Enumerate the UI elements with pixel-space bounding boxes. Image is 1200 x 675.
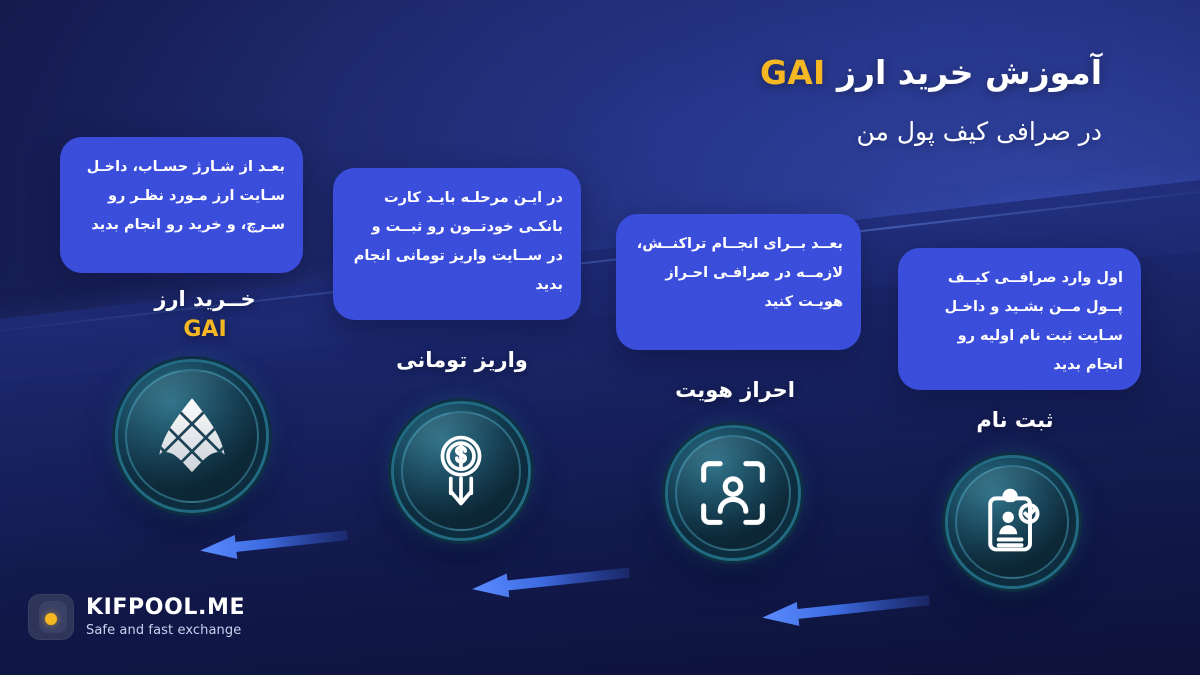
coin-buy-gai bbox=[118, 362, 266, 510]
brand-logo: KIFPOOL.ME Safe and fast exchange bbox=[28, 594, 245, 640]
gai-net-logo-icon bbox=[149, 393, 235, 479]
callout-bubble-buy-gai: بعـد از شـارژ حسـاب، داخـل سـایت ارز مـو… bbox=[60, 137, 303, 273]
arrow-left-icon bbox=[469, 558, 631, 605]
callout-bubble-signup: اول وارد صرافــی کیــف پــول مــن بشـید … bbox=[898, 248, 1141, 390]
brand-text-block: KIFPOOL.ME Safe and fast exchange bbox=[86, 596, 245, 638]
step-label-buy-gai-text: خــرید ارز bbox=[154, 287, 255, 311]
step-label-buy-gai-accent: GAI bbox=[110, 316, 300, 344]
page-title: آموزش خرید ارز GAI bbox=[760, 52, 1102, 93]
wallet-icon bbox=[28, 594, 74, 640]
coin-toman-deposit bbox=[394, 404, 528, 538]
wallet-coin-dot bbox=[45, 613, 57, 625]
flow-arrow-1 bbox=[759, 585, 932, 637]
dollar-down-arrow-icon bbox=[426, 432, 496, 510]
infographic-canvas: آموزش خرید ارز GAI در صرافی کیف پول من ب… bbox=[0, 0, 1200, 675]
arrow-left-icon bbox=[759, 585, 931, 633]
step-label-signup: ثبت نام bbox=[940, 408, 1090, 432]
step-label-buy-gai: خــرید ارز GAI bbox=[110, 286, 300, 344]
brand-name: KIFPOOL.ME bbox=[86, 596, 245, 619]
flow-arrow-2 bbox=[469, 558, 632, 609]
coin-identity-verification bbox=[668, 428, 798, 558]
page-subtitle: در صرافی کیف پول من bbox=[760, 117, 1102, 146]
callout-bubble-identity-verification: بعــد بــرای انجــام تراکنــش، لازمــه د… bbox=[616, 214, 861, 350]
brand-tagline: Safe and fast exchange bbox=[86, 623, 245, 638]
callout-bubble-toman-deposit: در ایـن مرحلـه بایـد کارت بانکـی خودتــو… bbox=[333, 168, 581, 320]
id-card-check-icon bbox=[979, 487, 1045, 557]
flow-arrow-3 bbox=[197, 520, 350, 569]
page-title-accent: GAI bbox=[760, 53, 826, 92]
page-title-main: آموزش خرید ارز bbox=[837, 53, 1102, 92]
heading-block: آموزش خرید ارز GAI در صرافی کیف پول من bbox=[760, 52, 1102, 146]
arrow-left-icon bbox=[197, 520, 349, 566]
step-label-toman-deposit: واریز تومانی bbox=[372, 348, 552, 372]
face-scan-icon bbox=[700, 460, 766, 526]
coin-signup bbox=[948, 458, 1076, 586]
step-label-identity-verification: احراز هویت bbox=[650, 378, 820, 402]
